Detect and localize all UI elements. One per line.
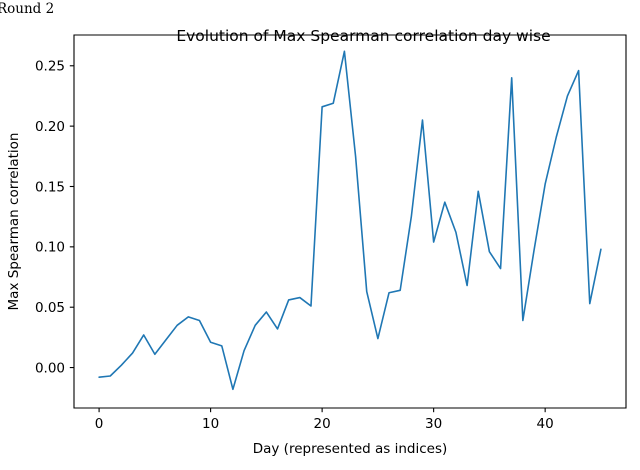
axes: 010203040 0.000.050.100.150.200.25 Day (… xyxy=(6,35,626,457)
y-tick-label: 0.00 xyxy=(35,360,65,376)
data-series-group xyxy=(99,51,601,389)
round-caption: Round 2 xyxy=(0,0,54,18)
y-tick-label: 0.20 xyxy=(35,119,65,135)
x-tick-label: 20 xyxy=(314,416,331,432)
x-tick-label: 10 xyxy=(202,416,219,432)
x-tick-label: 30 xyxy=(425,416,442,432)
y-tick-label: 0.15 xyxy=(35,179,65,195)
line-chart: 010203040 0.000.050.100.150.200.25 Day (… xyxy=(0,18,640,470)
y-tick-label: 0.05 xyxy=(35,300,65,316)
x-tick-label: 0 xyxy=(95,416,104,432)
y-tick-group: 0.000.050.100.150.200.25 xyxy=(35,59,74,377)
y-axis-label: Max Spearman correlation xyxy=(6,133,22,311)
figure-root: Round 2 Evolution of Max Spearman correl… xyxy=(0,0,640,470)
x-tick-label: 40 xyxy=(537,416,554,432)
matplotlib-figure: Evolution of Max Spearman correlation da… xyxy=(0,18,640,470)
y-tick-label: 0.25 xyxy=(35,59,65,75)
x-tick-group: 010203040 xyxy=(95,408,554,432)
x-axis-label: Day (represented as indices) xyxy=(253,441,448,457)
series-line-max-spearman xyxy=(99,51,601,389)
y-tick-label: 0.10 xyxy=(35,240,65,256)
